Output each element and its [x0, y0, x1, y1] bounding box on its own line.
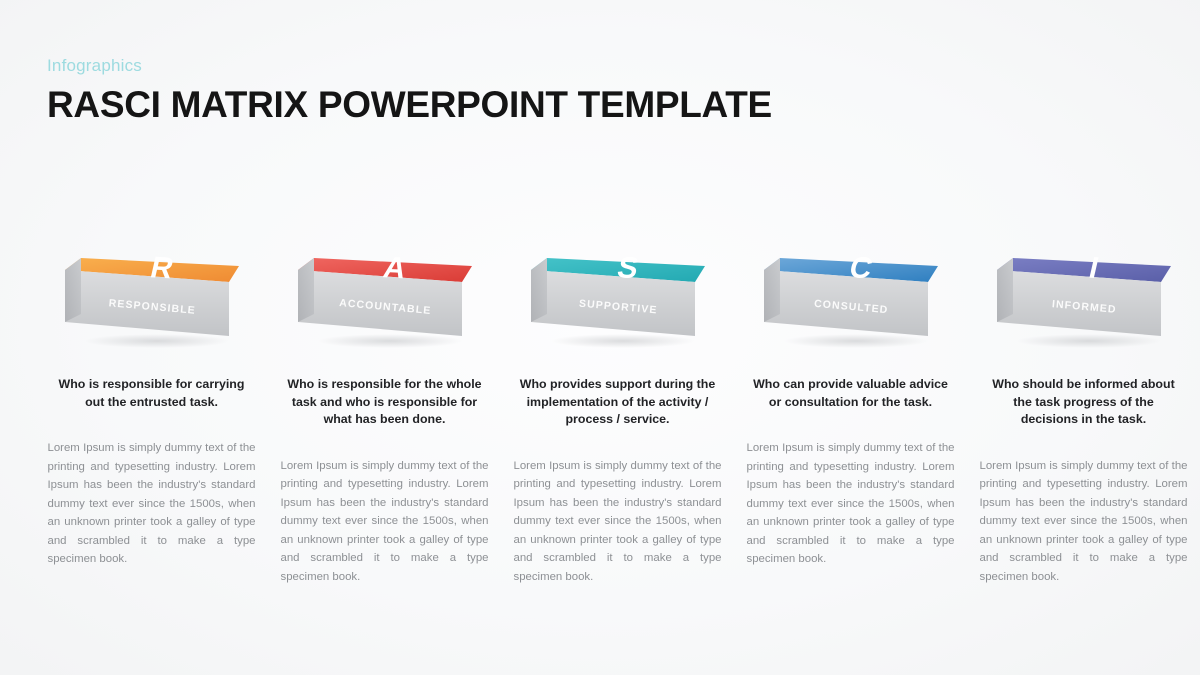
rasci-column[interactable]: I INFORMED Who should be informed about …	[972, 248, 1195, 586]
column-body-text: Lorem Ipsum is simply dummy text of the …	[747, 439, 955, 568]
rasci-column[interactable]: C CONSULTED Who can provide valuable adv…	[739, 248, 962, 586]
rasci-column[interactable]: A ACCOUNTABLE Who is responsible for the…	[273, 248, 496, 586]
box-3d-icon: R RESPONSIBLE	[57, 248, 247, 348]
column-body-text: Lorem Ipsum is simply dummy text of the …	[514, 457, 722, 586]
column-headline: Who should be informed about the task pr…	[984, 376, 1184, 429]
column-body-text: Lorem Ipsum is simply dummy text of the …	[281, 457, 489, 586]
column-headline: Who can provide valuable advice or consu…	[751, 376, 951, 411]
box-3d-icon: A ACCOUNTABLE	[290, 248, 480, 348]
rasci-column[interactable]: S SUPPORTIVE Who provides support during…	[506, 248, 729, 586]
rasci-3d-box[interactable]: S SUPPORTIVE	[523, 248, 713, 348]
rasci-3d-box[interactable]: A ACCOUNTABLE	[290, 248, 480, 348]
column-body-text: Lorem Ipsum is simply dummy text of the …	[48, 439, 256, 568]
box-3d-icon: I INFORMED	[989, 248, 1179, 348]
rasci-3d-box[interactable]: I INFORMED	[989, 248, 1179, 348]
eyebrow-label: Infographics	[47, 56, 142, 76]
box-3d-icon: S SUPPORTIVE	[523, 248, 713, 348]
rasci-column[interactable]: R RESPONSIBLE Who is responsible for car…	[40, 248, 263, 586]
rasci-3d-box[interactable]: R RESPONSIBLE	[57, 248, 247, 348]
rasci-columns: R RESPONSIBLE Who is responsible for car…	[0, 248, 1200, 586]
page-title: RASCI MATRIX POWERPOINT TEMPLATE	[47, 84, 772, 126]
column-headline: Who provides support during the implemen…	[518, 376, 718, 429]
box-3d-icon: C CONSULTED	[756, 248, 946, 348]
column-headline: Who is responsible for carrying out the …	[52, 376, 252, 411]
rasci-3d-box[interactable]: C CONSULTED	[756, 248, 946, 348]
column-body-text: Lorem Ipsum is simply dummy text of the …	[980, 457, 1188, 586]
column-headline: Who is responsible for the whole task an…	[285, 376, 485, 429]
slide-canvas: Infographics RASCI MATRIX POWERPOINT TEM…	[0, 0, 1200, 675]
